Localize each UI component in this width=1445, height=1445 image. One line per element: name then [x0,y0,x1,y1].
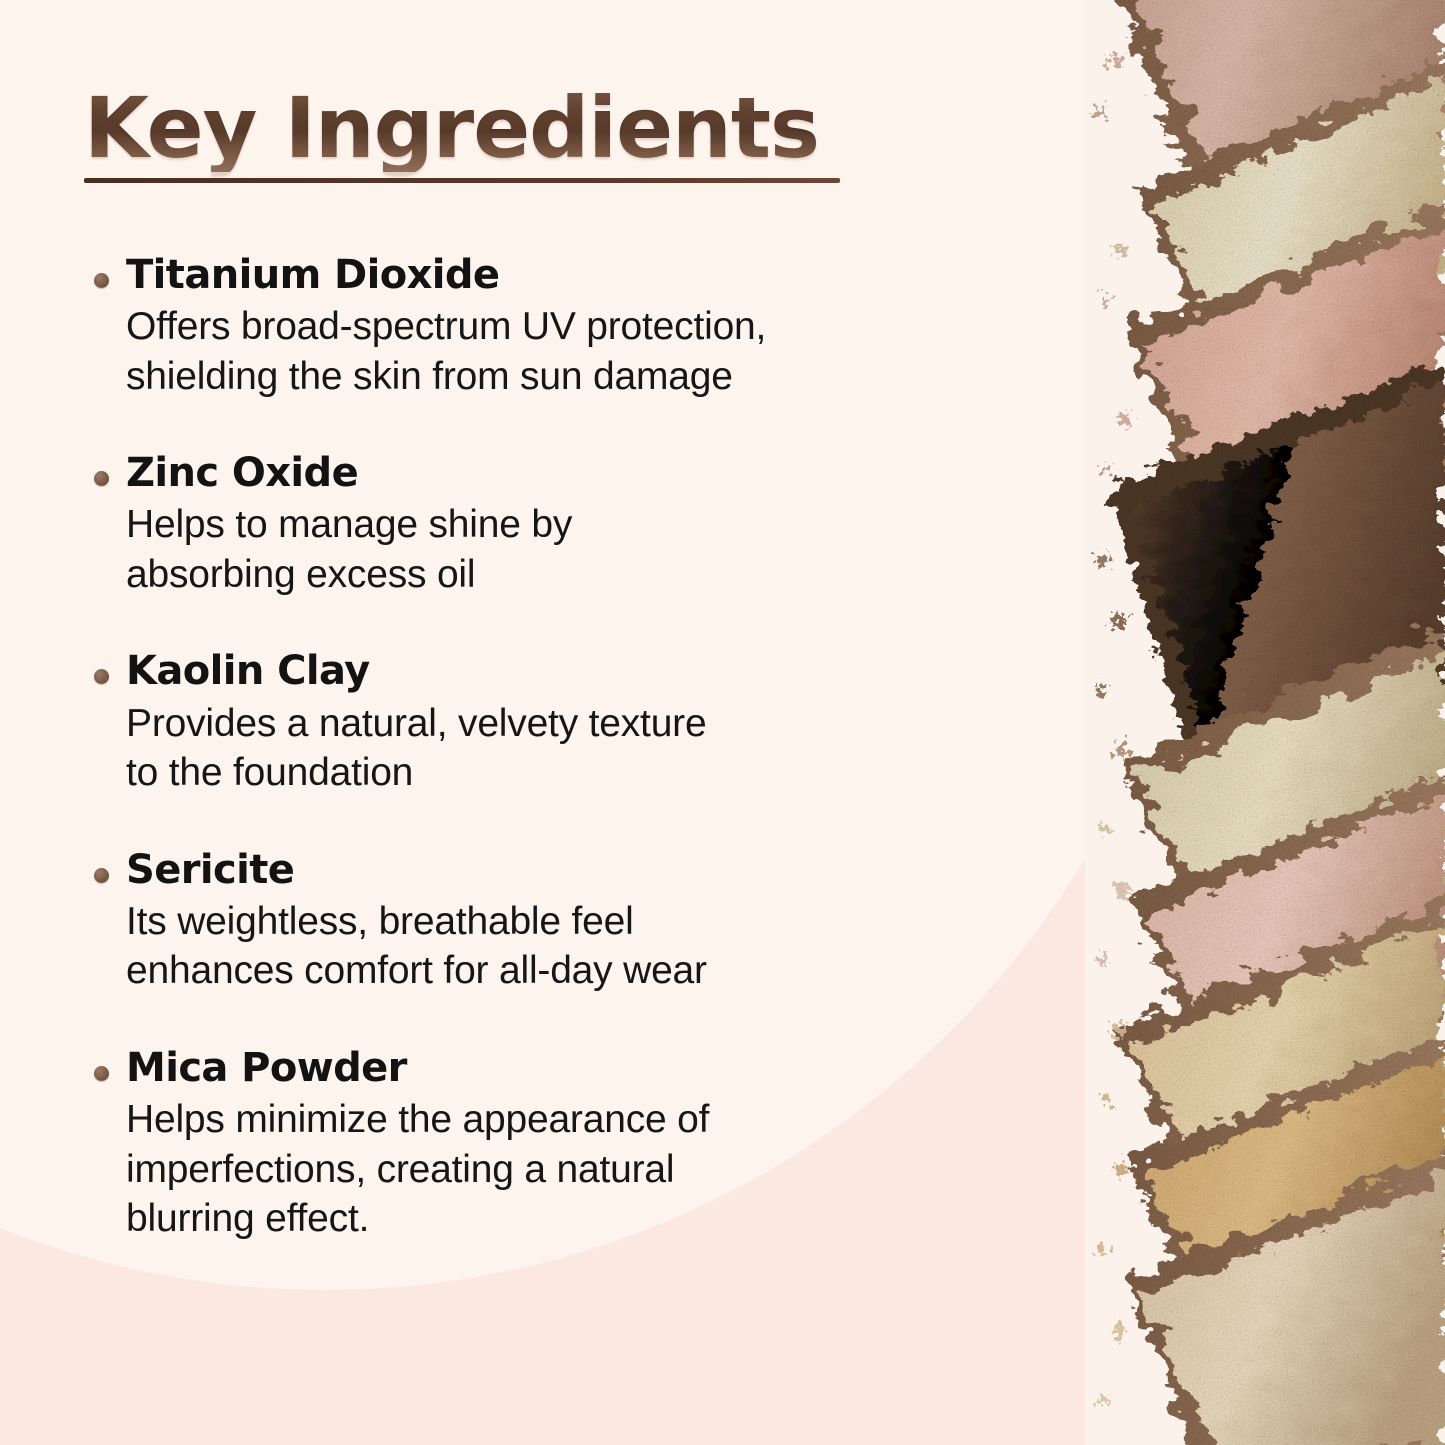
powder-swatch-photo [1085,0,1445,1445]
bullet-dot-icon [94,471,109,486]
title-underline [84,178,840,183]
key-ingredients-infographic: Key Ingredients Titanium Dioxide Offers … [0,0,1445,1445]
ingredient-description: Its weightless, breathable feel enhances… [126,897,1034,996]
list-item: Kaolin Clay Provides a natural, velvety … [84,648,1034,797]
bullet-dot-icon [94,868,109,883]
list-item: Sericite Its weightless, breathable feel… [84,847,1034,996]
powder-swatch-illustration [1085,0,1445,1445]
bullet-dot-icon [94,1066,109,1081]
ingredient-description: Helps minimize the appearance of imperfe… [126,1095,1034,1244]
page-title: Key Ingredients [84,86,864,172]
title-block: Key Ingredients [84,86,864,183]
content-column: Key Ingredients Titanium Dioxide Offers … [0,0,1090,1445]
bullet-dot-icon [94,273,109,288]
list-item: Mica Powder Helps minimize the appearanc… [84,1045,1034,1244]
ingredients-list: Titanium Dioxide Offers broad-spectrum U… [84,252,1034,1244]
ingredient-name: Sericite [126,847,1034,894]
ingredient-name: Titanium Dioxide [126,252,1034,299]
list-item: Titanium Dioxide Offers broad-spectrum U… [84,252,1034,401]
ingredient-description: Provides a natural, velvety texture to t… [126,699,1034,798]
ingredient-description: Helps to manage shine by absorbing exces… [126,500,1034,599]
ingredient-name: Mica Powder [126,1045,1034,1092]
ingredient-name: Kaolin Clay [126,648,1034,695]
ingredient-description: Offers broad-spectrum UV protection, shi… [126,302,1034,401]
bullet-dot-icon [94,669,109,684]
ingredient-name: Zinc Oxide [126,450,1034,497]
list-item: Zinc Oxide Helps to manage shine by abso… [84,450,1034,599]
